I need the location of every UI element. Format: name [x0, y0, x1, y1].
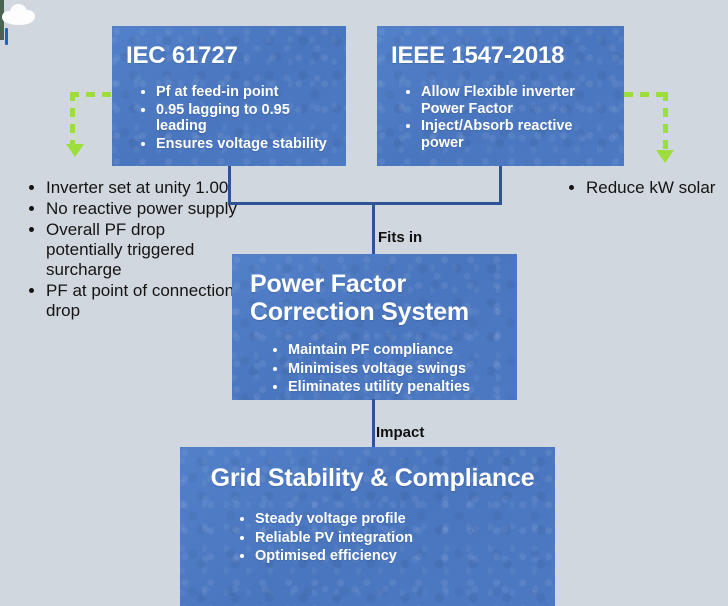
box-pfc-bullets: Maintain PF compliance Minimises voltage… — [250, 342, 507, 396]
list-item: Steady voltage profile — [255, 511, 545, 528]
list-item: PF at point of connection drop — [46, 281, 246, 321]
box-ieee-bullets: Allow Flexible inverter Power Factor Inj… — [391, 84, 614, 152]
list-item: Minimises voltage swings — [288, 361, 507, 378]
connector-label-fits-in: Fits in — [378, 229, 422, 246]
dashed-arrow-right-icon — [624, 92, 676, 170]
side-list-left: Inverter set at unity 1.00 No reactive p… — [18, 178, 246, 322]
box-iec-61727: IEC 61727 Pf at feed-in point 0.95 laggi… — [112, 26, 346, 166]
list-item: Reliable PV integration — [255, 530, 545, 547]
connector-join-to-pfc — [372, 202, 375, 256]
connector-ieee-down — [499, 166, 502, 205]
connector-horizontal-join — [228, 202, 502, 205]
connector-label-impact: Impact — [376, 424, 424, 441]
box-iec-bullets: Pf at feed-in point 0.95 lagging to 0.95… — [126, 84, 334, 153]
list-item: Pf at feed-in point — [156, 84, 334, 101]
list-item: 0.95 lagging to 0.95 leading — [156, 102, 334, 135]
box-grid-stability-compliance: Grid Stability & Compliance Steady volta… — [180, 447, 555, 606]
box-power-factor-correction-system: Power Factor Correction System Maintain … — [232, 254, 517, 400]
box-ieee-title: IEEE 1547-2018 — [391, 42, 614, 70]
side-list-right: Reduce kW solar — [558, 178, 728, 199]
cloud-icon — [2, 3, 36, 27]
diagram-canvas: IEC 61727 Pf at feed-in point 0.95 laggi… — [0, 0, 728, 606]
list-item: Allow Flexible inverter Power Factor — [421, 84, 614, 117]
list-item: Maintain PF compliance — [288, 342, 507, 359]
box-pfc-title: Power Factor Correction System — [250, 270, 507, 326]
list-item: Inverter set at unity 1.00 — [46, 178, 246, 198]
list-item: Optimised efficiency — [255, 548, 545, 565]
connector-pfc-to-grid — [372, 399, 375, 449]
list-item: No reactive power supply — [46, 199, 246, 219]
list-item: Reduce kW solar — [586, 178, 728, 198]
list-item: Overall PF drop potentially triggered su… — [46, 220, 246, 280]
list-item: Inject/Absorb reactive power — [421, 118, 614, 151]
dashed-arrow-left-icon — [66, 92, 118, 164]
box-iec-title: IEC 61727 — [126, 42, 334, 70]
list-item: Ensures voltage stability — [156, 136, 334, 153]
box-grid-title: Grid Stability & Compliance — [200, 464, 545, 493]
blue-tick-mark — [5, 28, 8, 45]
list-item: Eliminates utility penalties — [288, 379, 507, 396]
box-grid-bullets: Steady voltage profile Reliable PV integ… — [200, 511, 545, 565]
box-ieee-1547-2018: IEEE 1547-2018 Allow Flexible inverter P… — [377, 26, 624, 166]
